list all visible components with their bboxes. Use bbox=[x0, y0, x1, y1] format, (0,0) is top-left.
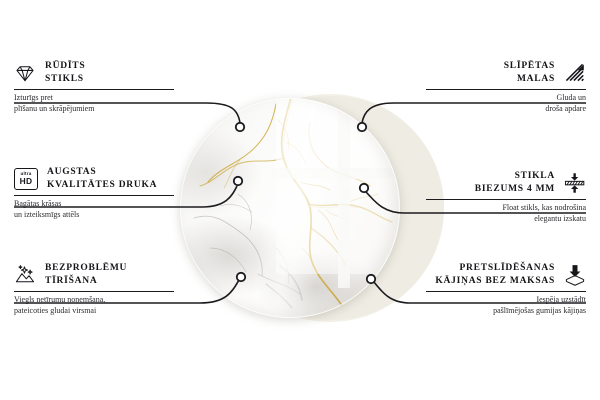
feature-title-line1: BEZPROBLĒMU bbox=[45, 262, 127, 275]
feature-divider bbox=[426, 199, 586, 200]
feature-polished-edges: SLĪPĒTAS MALAS Gluda un droša apdare bbox=[426, 60, 586, 114]
feature-title-line1: PRETSLĪDĒŠANAS bbox=[435, 262, 555, 275]
feature-tempered-glass: RŪDĪTS STIKLS Izturīgs pret plīšanu un s… bbox=[14, 60, 174, 114]
connector-dot-cleaning bbox=[237, 273, 245, 281]
connector-dot-tempered-glass bbox=[236, 123, 244, 131]
sparkle-clean-icon bbox=[14, 264, 36, 286]
feature-title-line2: TĪRĪŠANA bbox=[45, 275, 127, 288]
feature-divider bbox=[14, 89, 174, 90]
press-pad-icon bbox=[564, 264, 586, 286]
feature-title-line1: SLĪPĒTAS bbox=[504, 60, 555, 73]
diamond-icon bbox=[14, 62, 36, 84]
feature-desc-line2: elegantu izskatu bbox=[426, 214, 586, 225]
feature-title-line1: RŪDĪTS bbox=[45, 60, 85, 73]
thickness-arrows-icon bbox=[564, 172, 586, 194]
feature-glass-thickness: STIKLA BIEZUMS 4 MM bbox=[426, 170, 586, 224]
feature-desc-line1: Izturīgs pret bbox=[14, 93, 174, 104]
feature-desc-line2: pašlīmējošas gumijas kājiņas bbox=[426, 306, 586, 317]
feature-divider bbox=[14, 195, 174, 196]
connector-dot-anti-slip bbox=[367, 275, 375, 283]
feature-desc-line1: Bagātas krāsas bbox=[14, 199, 174, 210]
feature-title-line2: STIKLS bbox=[45, 73, 85, 86]
feature-desc-line2: un izteiksmīgs attēls bbox=[14, 210, 174, 221]
feature-desc-line1: Float stikls, kas nodrošina bbox=[426, 203, 586, 214]
feature-desc-line2: pateicoties gludai virsmai bbox=[14, 306, 174, 317]
feature-divider bbox=[14, 291, 174, 292]
feature-divider bbox=[426, 89, 586, 90]
connector-dot-thickness bbox=[360, 184, 368, 192]
feature-anti-slip-feet: PRETSLĪDĒŠANAS KĀJIŅAS BEZ MAKSAS Iespēj… bbox=[426, 262, 586, 316]
feature-title-line2: KVALITĀTES DRUKA bbox=[47, 179, 157, 192]
feature-desc-line1: Iespēja uzstādīt bbox=[426, 295, 586, 306]
polished-edge-icon bbox=[564, 62, 586, 84]
feature-high-quality-print: ultra HD AUGSTAS KVALITĀTES DRUKA Bagāta… bbox=[14, 166, 174, 220]
feature-title-line2: MALAS bbox=[504, 73, 555, 86]
feature-desc-line2: plīšanu un skrāpējumiem bbox=[14, 104, 174, 115]
feature-title-line1: STIKLA bbox=[475, 170, 555, 183]
connector-dot-polished-edges bbox=[358, 123, 366, 131]
feature-title-line1: AUGSTAS bbox=[47, 166, 157, 179]
feature-desc-line1: Gluda un bbox=[426, 93, 586, 104]
feature-desc-line1: Viegls netīrumu noņemšana, bbox=[14, 295, 174, 306]
ultra-hd-icon-large-label: HD bbox=[20, 177, 33, 185]
feature-title-line2: KĀJIŅAS BEZ MAKSAS bbox=[435, 275, 555, 288]
feature-desc-line2: droša apdare bbox=[426, 104, 586, 115]
feature-divider bbox=[426, 291, 586, 292]
feature-easy-cleaning: BEZPROBLĒMU TĪRĪŠANA Viegls netīrumu noņ… bbox=[14, 262, 174, 316]
feature-title-line2: BIEZUMS 4 MM bbox=[475, 183, 555, 196]
connector-dot-print bbox=[234, 177, 242, 185]
product-infographic: RŪDĪTS STIKLS Izturīgs pret plīšanu un s… bbox=[0, 0, 600, 400]
ultra-hd-icon: ultra HD bbox=[14, 168, 38, 190]
